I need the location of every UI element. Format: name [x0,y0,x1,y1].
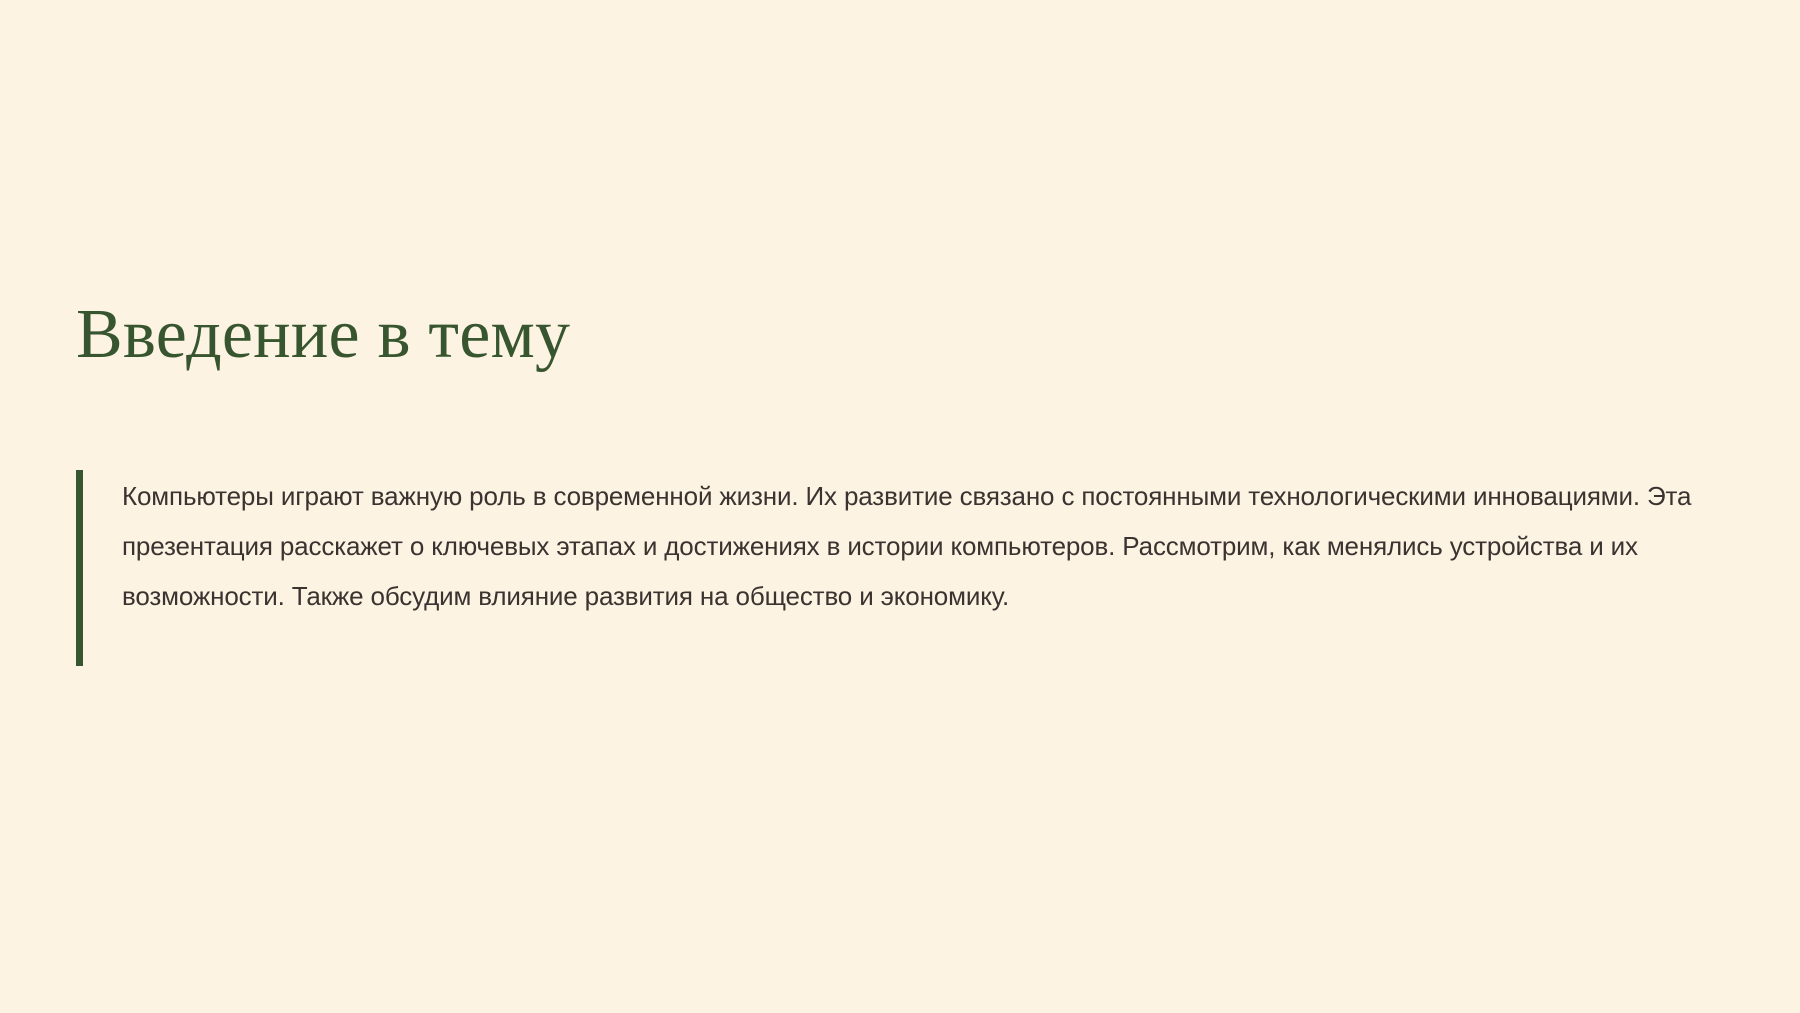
body-text-wrap: Компьютеры играют важную роль в современ… [83,470,1736,666]
page-title: Введение в тему [76,300,1676,370]
body-block: Компьютеры играют важную роль в современ… [76,470,1736,666]
slide-canvas: Введение в тему Компьютеры играют важную… [0,0,1800,1013]
accent-bar [76,470,83,666]
body-paragraph: Компьютеры играют важную роль в современ… [122,471,1712,621]
